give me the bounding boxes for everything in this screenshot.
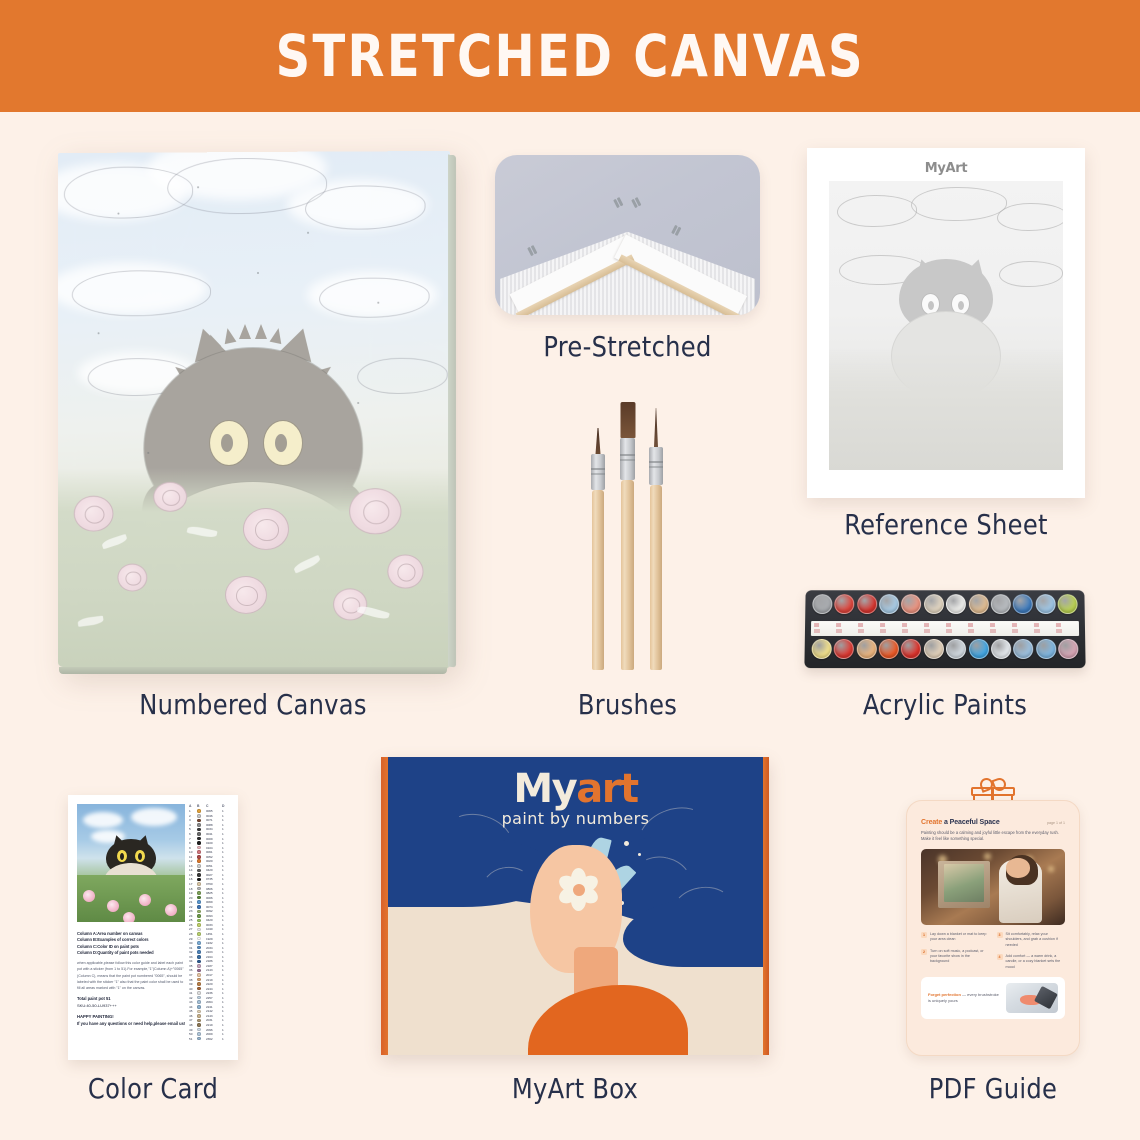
cell-area-number: 4 (189, 823, 197, 827)
pdf-guide-image: Create a Peaceful Space page 1 of 1 Pain… (902, 778, 1084, 1056)
cell-area-number: 26 (189, 923, 197, 927)
cell-color-id: 0093 (206, 914, 222, 918)
pdf-title-highlight: Create (921, 819, 942, 826)
cell-quantity: 1 (222, 1023, 229, 1027)
page-header: STRETCHED CANVAS (0, 0, 1140, 112)
cell-color-swatch (197, 859, 206, 863)
cell-area-number: 40 (189, 987, 197, 991)
cell-color-swatch (197, 846, 206, 850)
cell-quantity: 1 (222, 887, 229, 891)
cell-quantity: 1 (222, 991, 229, 995)
cell-color-id: 2244 (206, 987, 222, 991)
cell-quantity: 1 (222, 932, 229, 936)
cell-color-id: 2241 (206, 1005, 222, 1009)
cell-color-swatch (197, 900, 206, 904)
cell-color-swatch (197, 982, 206, 986)
cell-color-id: 2017 (206, 973, 222, 977)
cell-color-swatch (197, 987, 206, 991)
color-card-artwork (77, 804, 185, 922)
cell-quantity: 1 (222, 1032, 229, 1036)
cell-area-number: 35 (189, 964, 197, 968)
paint-pot (1057, 594, 1077, 614)
cell-quantity: 1 (222, 955, 229, 959)
color-card-instructions: when applicable,please follow this color… (77, 960, 187, 991)
cell-quantity: 1 (222, 864, 229, 868)
sku-code: SKU:40-50-LU937+++ (77, 1003, 187, 1009)
cell-area-number: 48 (189, 1023, 197, 1027)
pdf-note-highlight: Forget perfection (928, 992, 961, 997)
cell-color-id: 2219 (206, 1023, 222, 1027)
cell-quantity: 1 (222, 1005, 229, 1009)
cell-color-swatch (197, 919, 206, 923)
cell-quantity: 1 (222, 918, 229, 922)
cell-color-id: 0735 (206, 877, 222, 881)
th-d: D (222, 804, 229, 808)
pdf-title-rest: a Peaceful Space (942, 819, 999, 826)
cell-color-id: 2034 (206, 946, 222, 950)
paint-pot (924, 639, 944, 659)
cell-color-id: 2142 (206, 1009, 222, 1013)
color-card-image: Column A:Area number on canvas Column B:… (68, 795, 238, 1060)
pdf-intro-text: Painting should be a calming and joyful … (921, 830, 1065, 843)
cell-quantity: 1 (222, 850, 229, 854)
caption-acrylic-paints: Acrylic Paints (811, 688, 1080, 721)
cell-area-number: 6 (189, 832, 197, 836)
cell-color-swatch (197, 882, 206, 886)
cell-color-swatch (197, 973, 206, 977)
acrylic-paints-image (805, 590, 1085, 668)
cell-area-number: 10 (189, 850, 197, 854)
paint-pot (968, 594, 988, 614)
cell-area-number: 39 (189, 982, 197, 986)
paint-pot (1035, 594, 1055, 614)
brush-liner (650, 408, 662, 670)
cell-area-number: 22 (189, 905, 197, 909)
myart-box-image: Myart paint by numbers (381, 757, 769, 1055)
page-title: STRETCHED CANVAS (275, 22, 864, 90)
cell-color-id: 0074 (206, 905, 222, 909)
cell-color-id: 2064 (206, 1000, 222, 1004)
cell-color-id: 2143 (206, 968, 222, 972)
cell-color-swatch (197, 809, 206, 813)
color-table-header: A B C D (189, 804, 231, 808)
cell-area-number: 23 (189, 909, 197, 913)
cell-area-number: 37 (189, 973, 197, 977)
cell-quantity: 1 (222, 873, 229, 877)
cell-area-number: 34 (189, 959, 197, 963)
cell-color-swatch (197, 869, 206, 873)
cell-quantity: 1 (222, 1009, 229, 1013)
cell-color-swatch (197, 814, 206, 818)
cell-quantity: 1 (222, 814, 229, 818)
cell-quantity: 1 (222, 1018, 229, 1022)
product-infographic: STRETCHED CANVAS (0, 0, 1140, 1140)
cell-area-number: 25 (189, 918, 197, 922)
cell-color-id: 2220 (206, 982, 222, 986)
caption-pre-stretched: Pre-Stretched (500, 330, 754, 363)
cell-color-id: 2143 (206, 1014, 222, 1018)
cell-color-swatch (197, 932, 206, 936)
paint-pot (1013, 639, 1033, 659)
cell-quantity: 1 (222, 891, 229, 895)
cell-color-swatch (197, 828, 206, 832)
pdf-note-image (1006, 983, 1058, 1013)
cell-area-number: 33 (189, 955, 197, 959)
cell-quantity: 1 (222, 909, 229, 913)
cell-quantity: 1 (222, 968, 229, 972)
cell-color-id: 0104 (206, 846, 222, 850)
cell-area-number: 28 (189, 932, 197, 936)
cell-quantity: 1 (222, 1037, 229, 1041)
cell-quantity: 1 (222, 900, 229, 904)
cell-color-swatch (197, 1014, 206, 1018)
cell-color-id: 0825 (206, 891, 222, 895)
cell-color-id: 0061 (206, 850, 222, 854)
cell-area-number: 11 (189, 855, 197, 859)
canvas-artwork (58, 151, 450, 669)
cell-area-number: 2 (189, 814, 197, 818)
cell-area-number: 5 (189, 827, 197, 831)
cell-area-number: 36 (189, 968, 197, 972)
cell-color-id: 2236 (206, 991, 222, 995)
cell-area-number: 17 (189, 882, 197, 886)
box-logo-my: My (513, 766, 576, 812)
support-email-text: If you have any questions or need help,p… (77, 1021, 187, 1027)
cell-color-swatch (197, 1028, 206, 1032)
cell-color-id: 1040 (206, 927, 222, 931)
paint-pot (969, 639, 989, 659)
cell-quantity: 1 (222, 927, 229, 931)
paint-pot (902, 594, 922, 614)
cell-quantity: 1 (222, 978, 229, 982)
cell-area-number: 46 (189, 1014, 197, 1018)
pdf-tip-3-text: Sit comfortably, relax your shoulders, a… (1006, 932, 1066, 948)
cell-area-number: 1 (189, 809, 197, 813)
cell-color-swatch (197, 855, 206, 859)
cell-color-id: 0034 (206, 827, 222, 831)
cell-color-swatch (197, 1023, 206, 1027)
paint-pot (834, 639, 854, 659)
cell-color-swatch (197, 937, 206, 941)
cell-quantity: 1 (222, 846, 229, 850)
cell-quantity: 1 (222, 1000, 229, 1004)
paint-pot (924, 594, 944, 614)
pdf-photo (921, 849, 1065, 925)
cell-area-number: 27 (189, 927, 197, 931)
cell-quantity: 1 (222, 914, 229, 918)
cell-area-number: 18 (189, 887, 197, 891)
cell-quantity: 1 (222, 982, 229, 986)
cell-area-number: 8 (189, 841, 197, 845)
cell-color-swatch (197, 1037, 206, 1041)
brush-flat (621, 402, 634, 670)
paint-pot (812, 594, 832, 614)
cell-quantity: 1 (222, 896, 229, 900)
cell-area-number: 42 (189, 996, 197, 1000)
paint-pot-row-bottom (812, 639, 1079, 659)
cell-color-id: 0009 (206, 837, 222, 841)
cell-color-id: 0806 (206, 887, 222, 891)
pdf-tip-2-number: 2 (921, 949, 927, 955)
total-paint-pots: Total paint pot 51 (77, 996, 187, 1003)
cell-area-number: 15 (189, 873, 197, 877)
pdf-tip-1-text: Lay down a blanket or mat to keep your a… (930, 932, 990, 943)
cell-area-number: 41 (189, 991, 197, 995)
cell-color-swatch (197, 887, 206, 891)
cell-area-number: 43 (189, 1000, 197, 1004)
pdf-note-card: Forget perfection — every brushstroke is… (921, 977, 1065, 1019)
caption-numbered-canvas: Numbered Canvas (65, 688, 441, 721)
caption-color-card: Color Card (67, 1072, 240, 1105)
happy-painting-text: HAPPY PAINTING! (77, 1014, 187, 1021)
cell-color-id: 0027 (206, 873, 222, 877)
cell-color-id: 0051 (206, 864, 222, 868)
pdf-tip-3: 3 Sit comfortably, relax your shoulders,… (997, 932, 1066, 948)
cell-quantity: 1 (222, 1014, 229, 1018)
canvas-meadow (58, 468, 450, 669)
cell-quantity: 1 (222, 950, 229, 954)
paint-pot (857, 594, 877, 614)
th-a: A (189, 804, 197, 808)
cell-color-swatch (197, 873, 206, 877)
cell-color-swatch (197, 950, 206, 954)
pdf-tip-2: 2 Turn on soft music, a podcast, or your… (921, 949, 990, 965)
cell-quantity: 1 (222, 987, 229, 991)
paint-pot-row-top (812, 594, 1078, 614)
cell-area-number: 45 (189, 1009, 197, 1013)
cell-color-id: 0065 (206, 809, 222, 813)
cell-color-swatch (197, 923, 206, 927)
cell-color-id: 2257 (206, 996, 222, 1000)
cell-color-swatch (197, 991, 206, 995)
cell-color-id: 0092 (206, 909, 222, 913)
pdf-tip-1: 1 Lay down a blanket or mat to keep your… (921, 932, 990, 943)
cell-color-id: 0420 (206, 918, 222, 922)
th-b: B (197, 804, 206, 808)
cell-quantity: 1 (222, 859, 229, 863)
cell-quantity: 1 (222, 841, 229, 845)
cell-color-swatch (197, 969, 206, 973)
cell-color-id: 2186 (206, 959, 222, 963)
cell-area-number: 19 (189, 891, 197, 895)
cell-color-id: 2009 (206, 1032, 222, 1036)
cell-area-number: 32 (189, 950, 197, 954)
cell-color-id: 1932 (206, 941, 222, 945)
cell-area-number: 14 (189, 868, 197, 872)
paint-label-strip (811, 621, 1079, 636)
pdf-note-text: Forget perfection — every brushstroke is… (928, 992, 1000, 1004)
paint-pot (901, 639, 921, 659)
cell-area-number: 21 (189, 900, 197, 904)
cell-color-id: 1929 (206, 937, 222, 941)
cell-quantity: 1 (222, 868, 229, 872)
cell-color-swatch (197, 823, 206, 827)
cell-quantity: 1 (222, 941, 229, 945)
paint-pot (991, 594, 1011, 614)
cell-color-swatch (197, 964, 206, 968)
cell-color-id: 0071 (206, 818, 222, 822)
cell-area-number: 50 (189, 1032, 197, 1036)
cell-area-number: 3 (189, 818, 197, 822)
caption-myart-box: MyArt Box (389, 1072, 761, 1105)
cell-quantity: 1 (222, 946, 229, 950)
cell-area-number: 9 (189, 846, 197, 850)
cell-quantity: 1 (222, 996, 229, 1000)
cell-color-swatch (197, 928, 206, 932)
brush-round (592, 430, 604, 670)
cell-color-swatch (197, 1019, 206, 1023)
color-card-text-block: Column A:Area number on canvas Column B:… (77, 931, 187, 1027)
box-daisy-flower (558, 869, 600, 911)
cat-right-eye (263, 420, 303, 466)
cell-color-swatch (197, 1032, 206, 1036)
cell-color-id: 0100 (206, 841, 222, 845)
cell-color-id: 0052 (206, 855, 222, 859)
cell-color-swatch (197, 864, 206, 868)
paint-tray (804, 590, 1085, 668)
paint-pot (812, 639, 832, 659)
color-table-row: 5123621 (189, 1036, 231, 1041)
box-logo: Myart (388, 769, 763, 809)
cell-color-id: 0020 (206, 859, 222, 863)
cell-area-number: 44 (189, 1005, 197, 1009)
cell-area-number: 20 (189, 896, 197, 900)
cell-quantity: 1 (222, 818, 229, 822)
cell-color-swatch (197, 905, 206, 909)
cell-quantity: 1 (222, 837, 229, 841)
cell-area-number: 13 (189, 864, 197, 868)
paint-pot (946, 639, 966, 659)
caption-brushes: Brushes (500, 688, 754, 721)
cell-quantity: 1 (222, 882, 229, 886)
cell-area-number: 47 (189, 1018, 197, 1022)
cell-color-swatch (197, 1010, 206, 1014)
cell-color-swatch (197, 1005, 206, 1009)
pdf-tip-4: 4 Add comfort — a warm drink, a candle, … (997, 954, 1066, 970)
cell-color-id: 2219 (206, 978, 222, 982)
cell-area-number: 38 (189, 978, 197, 982)
reference-sheet-image: MyArt (807, 148, 1085, 498)
paint-pot (946, 594, 966, 614)
paint-pot (856, 639, 876, 659)
cell-color-id: 2164 (206, 955, 222, 959)
cell-area-number: 31 (189, 946, 197, 950)
pdf-tip-4-text: Add comfort — a warm drink, a candle, or… (1006, 954, 1066, 970)
cell-area-number: 24 (189, 914, 197, 918)
paint-pot (1058, 639, 1078, 659)
paint-pot (991, 639, 1011, 659)
cell-color-id: 1451 (206, 932, 222, 936)
pdf-tip-4-number: 4 (997, 954, 1003, 960)
pdf-page-label: page 1 of 1 (1047, 821, 1065, 825)
th-c: C (206, 804, 222, 808)
cell-quantity: 1 (222, 827, 229, 831)
cell-color-id: 0760 (206, 882, 222, 886)
cell-quantity: 1 (222, 877, 229, 881)
cell-color-swatch (197, 819, 206, 823)
pdf-guide-page: Create a Peaceful Space page 1 of 1 Pain… (906, 800, 1080, 1056)
cell-area-number: 51 (189, 1037, 197, 1041)
cell-color-swatch (197, 837, 206, 841)
cell-quantity: 1 (222, 855, 229, 859)
cell-color-id: 0069 (206, 900, 222, 904)
cell-area-number: 7 (189, 837, 197, 841)
cell-color-swatch (197, 832, 206, 836)
cell-quantity: 1 (222, 809, 229, 813)
cell-color-swatch (197, 1000, 206, 1004)
cell-color-swatch (197, 914, 206, 918)
cell-quantity: 1 (222, 937, 229, 941)
paint-pot (879, 639, 899, 659)
cell-area-number: 49 (189, 1028, 197, 1032)
column-d-desc: Column D:Quantity of paint pots needed (77, 950, 187, 956)
cell-color-id: 0420 (206, 868, 222, 872)
cell-color-swatch (197, 891, 206, 895)
brushes-image (578, 388, 678, 670)
cell-area-number: 30 (189, 941, 197, 945)
cell-color-swatch (197, 955, 206, 959)
cell-color-swatch (197, 996, 206, 1000)
pdf-tip-2-text: Turn on soft music, a podcast, or your f… (930, 949, 990, 965)
box-woman-shoulder (528, 985, 688, 1055)
cell-color-swatch (197, 841, 206, 845)
paint-pot (1013, 594, 1033, 614)
cell-quantity: 1 (222, 832, 229, 836)
cell-color-swatch (197, 850, 206, 854)
paint-pot (879, 594, 899, 614)
cell-color-id: 2031 (206, 1018, 222, 1022)
cell-color-swatch (197, 910, 206, 914)
cell-area-number: 12 (189, 859, 197, 863)
pdf-guide-title: Create a Peaceful Space (921, 819, 1065, 826)
cell-quantity: 1 (222, 973, 229, 977)
cell-quantity: 1 (222, 905, 229, 909)
cell-color-id: 0033 (206, 923, 222, 927)
cell-color-id: 0041 (206, 832, 222, 836)
cell-color-id: 2362 (206, 1037, 222, 1041)
cell-color-swatch (197, 896, 206, 900)
paint-pot (1036, 639, 1056, 659)
box-logo-art: art (576, 766, 637, 812)
cell-color-id: 0046 (206, 814, 222, 818)
pdf-tip-1-number: 1 (921, 932, 927, 938)
cell-quantity: 1 (222, 959, 229, 963)
cell-color-id: 2096 (206, 1028, 222, 1032)
cell-quantity: 1 (222, 964, 229, 968)
paint-pot (835, 594, 855, 614)
cell-quantity: 1 (222, 923, 229, 927)
cell-area-number: 16 (189, 877, 197, 881)
cell-color-swatch (197, 946, 206, 950)
box-tagline: paint by numbers (388, 809, 763, 828)
reference-logo: MyArt (807, 161, 1085, 176)
cell-color-id: 0006 (206, 896, 222, 900)
cell-color-swatch (197, 978, 206, 982)
cell-color-swatch (197, 941, 206, 945)
caption-pdf-guide: PDF Guide (906, 1072, 1081, 1105)
numbered-canvas-image (57, 152, 449, 668)
cell-color-id: 2187 (206, 964, 222, 968)
cell-color-swatch (197, 960, 206, 964)
pdf-tips-list: 1 Lay down a blanket or mat to keep your… (921, 932, 1065, 970)
cat-left-eye (209, 420, 249, 466)
cell-color-id: 2103 (206, 950, 222, 954)
cell-quantity: 1 (222, 823, 229, 827)
cell-area-number: 29 (189, 937, 197, 941)
pre-stretched-image (495, 155, 760, 315)
caption-reference-sheet: Reference Sheet (813, 508, 1080, 541)
cell-quantity: 1 (222, 1028, 229, 1032)
